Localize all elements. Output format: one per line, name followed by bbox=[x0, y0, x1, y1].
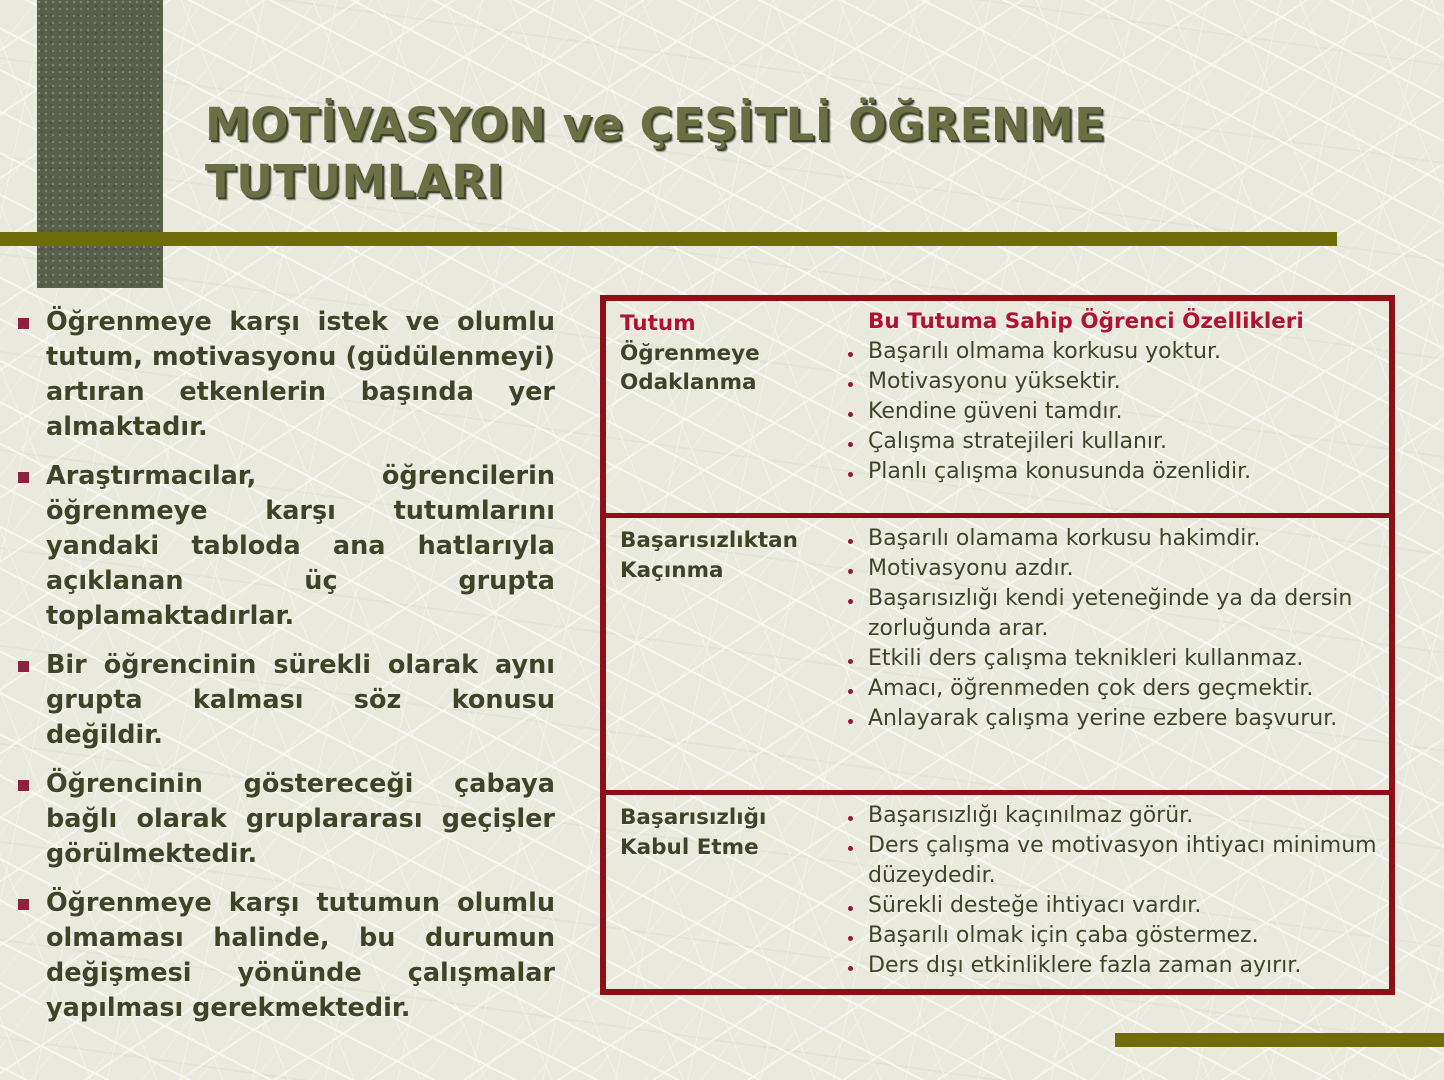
list-item: Başarılı olmak için çaba göstermez. bbox=[842, 921, 1381, 951]
table-row-label-acceptance: Başarısızlığı Kabul Etme bbox=[620, 801, 842, 803]
list-item: Ders dışı etkinliklere fazla zaman ayırı… bbox=[842, 951, 1381, 981]
list-item: Öğrenmeye karşı tutumun olumlu olmaması … bbox=[10, 886, 555, 1026]
list-item: Planlı çalışma konusunda özenlidir. bbox=[842, 457, 1381, 487]
list-item: Anlayarak çalışma yerine ezbere başvurur… bbox=[842, 704, 1381, 734]
list-item: Sürekli desteğe ihtiyacı vardır. bbox=[842, 891, 1381, 921]
list-item: Başarılı olmama korkusu yoktur. bbox=[842, 337, 1381, 367]
row-label-text: Öğrenmeye Odaklanma bbox=[620, 341, 760, 396]
list-item: Etkili ders çalışma teknikleri kullanmaz… bbox=[842, 644, 1381, 674]
column-header-characteristics: Bu Tutuma Sahip Öğrenci Özellikleri bbox=[842, 307, 1381, 337]
table-row: Başarısızlıktan Kaçınma Başarılı olamama… bbox=[606, 513, 1389, 790]
attitudes-table: Tutum Öğrenmeye Odaklanma Bu Tutuma Sahi… bbox=[600, 295, 1395, 995]
list-item: Araştırmacılar, öğrencilerin öğrenmeye k… bbox=[10, 459, 555, 634]
list-item: Öğrencinin göstereceği çabaya bağlı olar… bbox=[10, 767, 555, 872]
list-item: Çalışma stratejileri kullanır. bbox=[842, 427, 1381, 457]
page-title: MOTİVASYON ve ÇEŞİTLİ ÖĞRENME TUTUMLARI bbox=[205, 96, 1335, 210]
table-row: Tutum Öğrenmeye Odaklanma Bu Tutuma Sahi… bbox=[606, 301, 1389, 513]
list-item: Başarılı olamama korkusu hakimdir. bbox=[842, 524, 1381, 554]
decorative-bottom-rule bbox=[1115, 1033, 1444, 1047]
list-item: Motivasyonu azdır. bbox=[842, 554, 1381, 584]
table-row-label-avoidance: Başarısızlıktan Kaçınma bbox=[620, 524, 842, 782]
table-row: Başarısızlığı Kabul Etme Başarısızlığı k… bbox=[606, 790, 1389, 809]
list-item: Ders çalışma ve motivasyon ihtiyacı mini… bbox=[842, 831, 1381, 891]
decorative-title-rule bbox=[0, 232, 1337, 246]
list-item: Öğrenmeye karşı istek ve olumlu tutum, m… bbox=[10, 305, 555, 445]
bullet-list: Öğrenmeye karşı istek ve olumlu tutum, m… bbox=[10, 305, 555, 1040]
list-item: Kendine güveni tamdır. bbox=[842, 397, 1381, 427]
table-row-items: Başarılı olamama korkusu hakimdir. Motiv… bbox=[842, 524, 1381, 782]
column-header-attitude: Tutum bbox=[620, 309, 842, 339]
slide-canvas: MOTİVASYON ve ÇEŞİTLİ ÖĞRENME TUTUMLARI … bbox=[0, 0, 1444, 1080]
list-item: Başarısızlığı kendi yeteneğinde ya da de… bbox=[842, 584, 1381, 644]
list-item: Bir öğrencinin sürekli olarak aynı grupt… bbox=[10, 648, 555, 753]
list-item: Amacı, öğrenmeden çok ders geçmektir. bbox=[842, 674, 1381, 704]
list-item: Motivasyonu yüksektir. bbox=[842, 367, 1381, 397]
table-row-items: Bu Tutuma Sahip Öğrenci Özellikleri Başa… bbox=[842, 307, 1381, 505]
list-item: Başarısızlığı kaçınılmaz görür. bbox=[842, 801, 1381, 831]
table-row-label-focus: Tutum Öğrenmeye Odaklanma bbox=[620, 307, 842, 505]
